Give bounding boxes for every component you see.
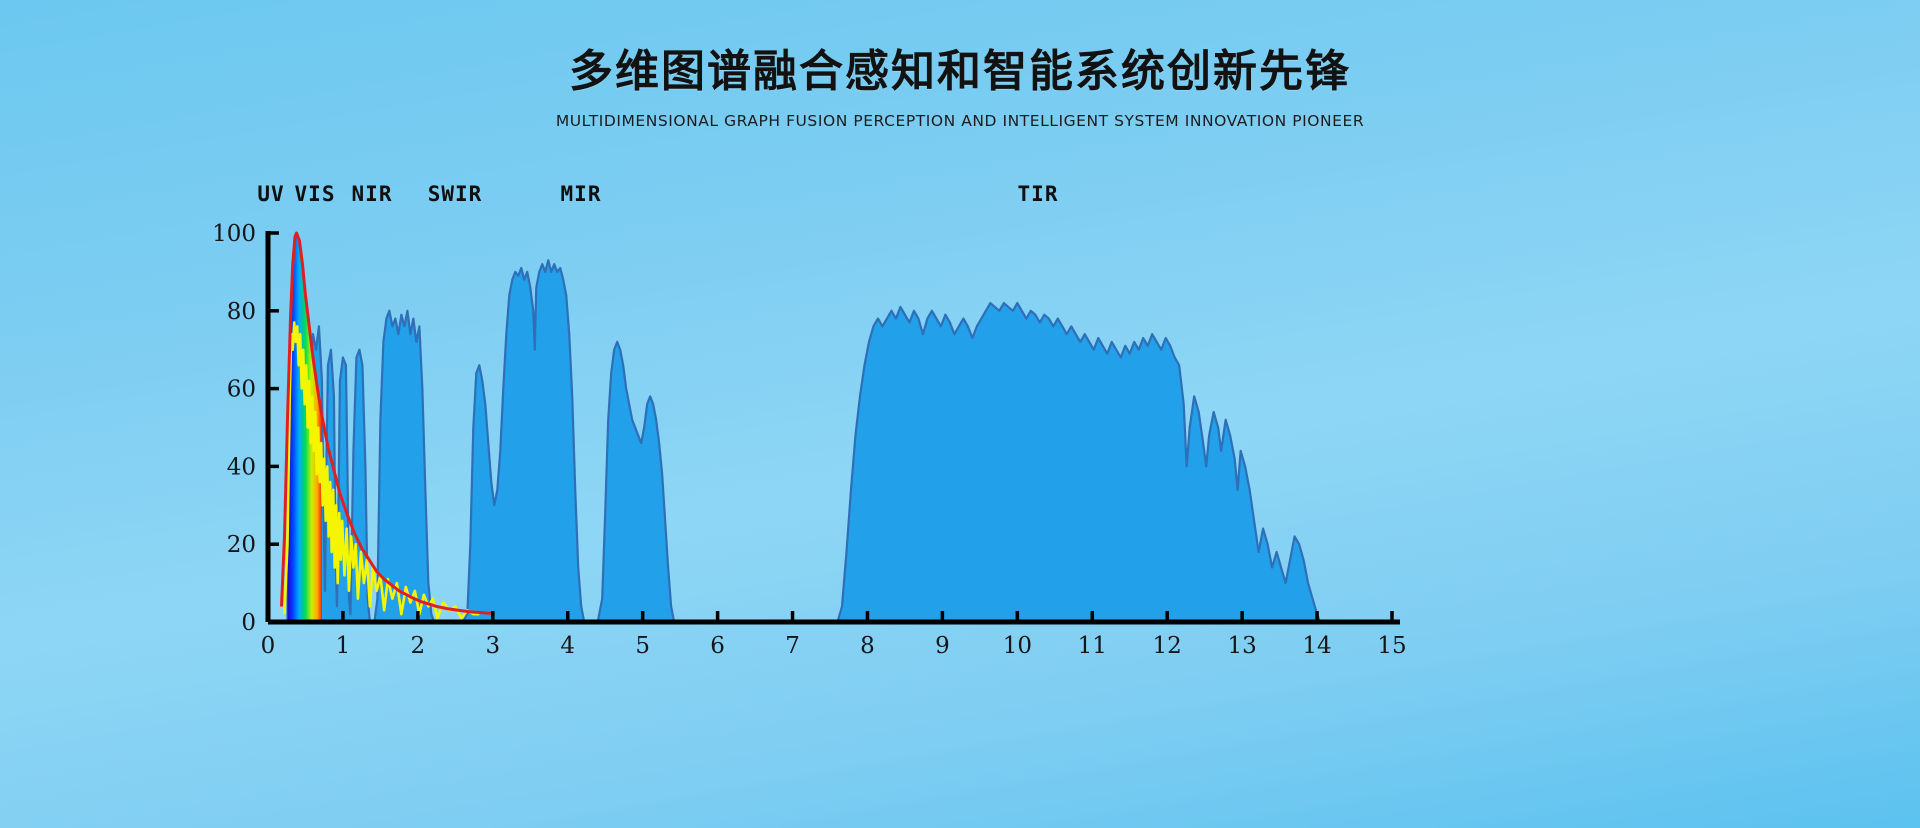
x-tick-label: 7 [785,633,800,659]
x-tick-label: 10 [1003,633,1032,659]
y-tick-label: 40 [227,454,256,480]
x-tick-label: 9 [935,633,950,659]
y-tick-label: 20 [227,532,256,558]
plot-area [268,233,1320,622]
x-tick-label: 14 [1302,633,1331,659]
x-tick-label: 13 [1227,633,1256,659]
x-tick-label: 1 [336,633,351,659]
x-tick-label: 5 [635,633,650,659]
x-tick-label: 12 [1153,633,1182,659]
y-tick-label: 60 [227,377,256,403]
transmission-area [268,260,1320,622]
x-tick-label: 8 [860,633,875,659]
x-tick-label: 15 [1377,633,1406,659]
x-tick-label: 4 [560,633,575,659]
spectrum-chart: 0123456789101112131415020406080100 [0,0,1920,828]
x-tick-label: 3 [485,633,500,659]
x-tick-label: 11 [1078,633,1107,659]
y-tick-label: 100 [212,221,256,247]
spectrum-chart-svg: 0123456789101112131415020406080100 [0,0,1920,828]
x-tick-label: 2 [411,633,426,659]
y-tick-label: 0 [241,610,256,636]
x-tick-label: 6 [710,633,725,659]
x-tick-label: 0 [261,633,276,659]
y-tick-label: 80 [227,299,256,325]
poster-root: 多维图谱融合感知和智能系统创新先锋 MULTIDIMENSIONAL GRAPH… [0,0,1920,828]
